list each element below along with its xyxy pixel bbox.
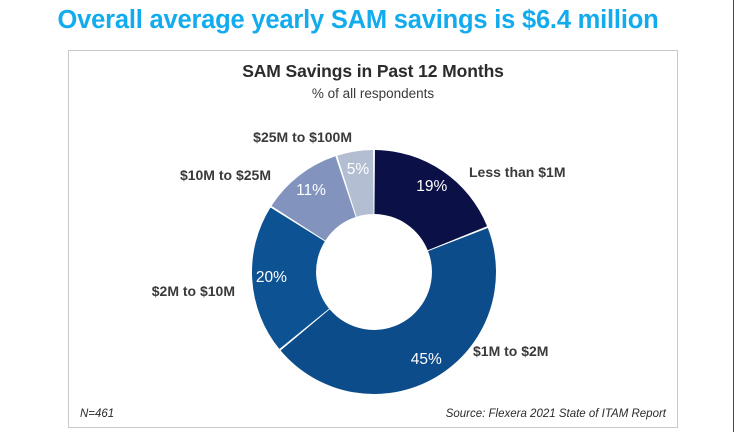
source-note: Source: Flexera 2021 State of ITAM Repor… bbox=[446, 408, 666, 420]
donut-slice-value-label: 11% bbox=[296, 182, 326, 200]
donut-category-label: $2M to $10M bbox=[152, 283, 235, 299]
donut-slice-group bbox=[252, 150, 496, 394]
donut-slice-value-label: 45% bbox=[411, 351, 442, 369]
donut-category-label: $1M to $2M bbox=[473, 343, 548, 359]
donut-slice-value-label: 19% bbox=[416, 178, 447, 196]
slide-right-edge-rule bbox=[733, 0, 734, 432]
sample-size-note: N=461 bbox=[80, 408, 114, 420]
donut-category-label: Less than $1M bbox=[469, 164, 565, 180]
donut-category-label: $25M to $100M bbox=[253, 129, 352, 145]
chart-panel: SAM Savings in Past 12 Months % of all r… bbox=[68, 50, 678, 428]
donut-category-label: $10M to $25M bbox=[180, 167, 271, 183]
donut-slice-value-label: 20% bbox=[256, 269, 287, 287]
donut-chart: 19%45%20%11%5% Less than $1M$1M to $2M$2… bbox=[69, 51, 679, 429]
donut-chart-svg bbox=[69, 51, 679, 429]
donut-slice-value-label: 5% bbox=[347, 161, 369, 179]
slide-headline: Overall average yearly SAM savings is $6… bbox=[0, 6, 716, 35]
